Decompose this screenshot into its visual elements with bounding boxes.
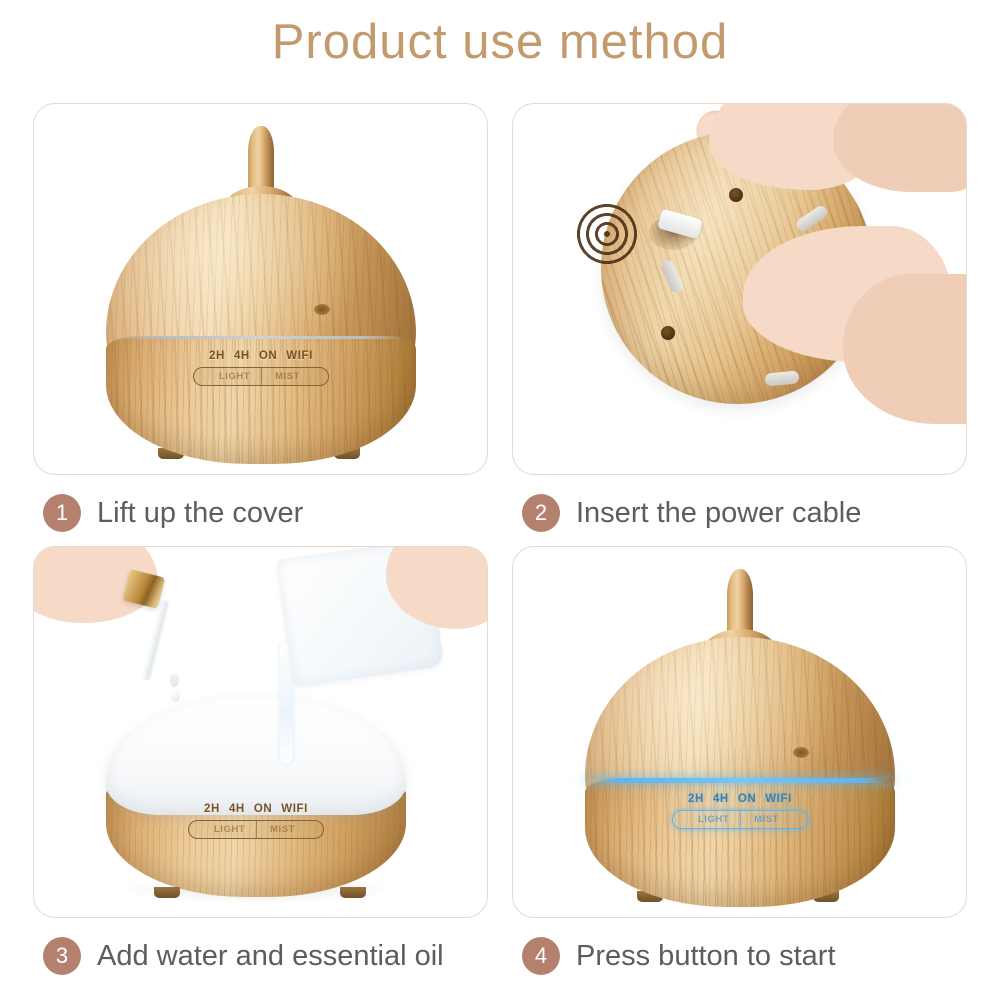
mist-button[interactable]: MIST xyxy=(256,821,309,838)
control-panel: 2H 4H ON WIFI LIGHT MIST xyxy=(188,803,324,839)
step-panel-2: 2 Insert the power cable xyxy=(512,103,967,539)
mode-label-4h: 4H xyxy=(713,793,729,805)
mode-label-4h: 4H xyxy=(234,350,250,362)
mode-label-2h: 2H xyxy=(209,350,225,362)
mode-label-on: ON xyxy=(259,350,277,362)
mode-label-wifi: WIFI xyxy=(765,793,792,805)
step-caption: Press button to start xyxy=(576,940,836,973)
dropper-tube xyxy=(140,599,171,681)
seam-line xyxy=(118,336,404,339)
mode-label-wifi: WIFI xyxy=(281,803,308,815)
mode-label-2h: 2H xyxy=(688,793,704,805)
step-panel-4: 2H 4H ON WIFI LIGHT MIST 4 Press button xyxy=(512,546,967,982)
white-diffuser-cover xyxy=(106,697,406,815)
led-seam-line xyxy=(587,778,893,783)
screw-hole xyxy=(729,188,743,202)
dropper-tip xyxy=(170,673,179,687)
step-number-badge: 2 xyxy=(522,494,560,532)
step-4-caption-row: 4 Press button to start xyxy=(512,930,967,982)
mode-label-4h: 4H xyxy=(229,803,245,815)
steps-grid: 2H 4H ON WIFI LIGHT MIST 1 Lift up the xyxy=(33,103,967,983)
button-row: LIGHT MIST xyxy=(672,810,808,829)
mode-labels: 2H 4H ON WIFI xyxy=(672,793,808,805)
step-caption: Insert the power cable xyxy=(576,497,861,530)
step-3-caption-row: 3 Add water and essential oil xyxy=(33,930,488,982)
wood-knot xyxy=(314,304,330,315)
step-1-image-card: 2H 4H ON WIFI LIGHT MIST xyxy=(33,103,488,475)
button-row: LIGHT MIST xyxy=(193,367,329,386)
mode-labels: 2H 4H ON WIFI xyxy=(193,350,329,362)
light-button[interactable]: LIGHT xyxy=(209,368,261,385)
mist-button[interactable]: MIST xyxy=(261,368,314,385)
step-3-image-card: 2H 4H ON WIFI LIGHT MIST xyxy=(33,546,488,918)
step-panel-1: 2H 4H ON WIFI LIGHT MIST 1 Lift up the xyxy=(33,103,488,539)
page-title: Product use method xyxy=(0,14,1000,70)
product-instruction-page: Product use method 2H 4H xyxy=(0,0,1000,1000)
light-button[interactable]: LIGHT xyxy=(204,821,256,838)
diffuser-powered-on: 2H 4H ON WIFI LIGHT MIST xyxy=(585,569,895,899)
mist-button[interactable]: MIST xyxy=(740,811,793,828)
mode-label-on: ON xyxy=(254,803,272,815)
step-2-image-card xyxy=(512,103,967,475)
light-button[interactable]: LIGHT xyxy=(688,811,740,828)
step-4-image-card: 2H 4H ON WIFI LIGHT MIST xyxy=(512,546,967,918)
control-panel: 2H 4H ON WIFI LIGHT MIST xyxy=(672,793,808,829)
forearm xyxy=(843,274,967,424)
oil-drop xyxy=(171,689,180,702)
step-number-badge: 4 xyxy=(522,937,560,975)
base-foot-left xyxy=(154,887,180,898)
step-2-caption-row: 2 Insert the power cable xyxy=(512,487,967,539)
mode-labels: 2H 4H ON WIFI xyxy=(188,803,324,815)
mode-label-wifi: WIFI xyxy=(286,350,313,362)
step-caption: Lift up the cover xyxy=(97,497,303,530)
step-1-caption-row: 1 Lift up the cover xyxy=(33,487,488,539)
mode-label-on: ON xyxy=(738,793,756,805)
step-number-badge: 3 xyxy=(43,937,81,975)
wood-knot xyxy=(793,747,809,758)
step-panel-3: 2H 4H ON WIFI LIGHT MIST 3 Add water and… xyxy=(33,546,488,982)
button-row: LIGHT MIST xyxy=(188,820,324,839)
step-caption: Add water and essential oil xyxy=(97,940,444,973)
step-number-badge: 1 xyxy=(43,494,81,532)
control-panel: 2H 4H ON WIFI LIGHT MIST xyxy=(193,350,329,386)
base-foot-right xyxy=(340,887,366,898)
mode-label-2h: 2H xyxy=(204,803,220,815)
fan-vent-icon xyxy=(573,200,641,268)
screw-hole xyxy=(661,326,675,340)
diffuser-front-view: 2H 4H ON WIFI LIGHT MIST xyxy=(106,126,416,456)
